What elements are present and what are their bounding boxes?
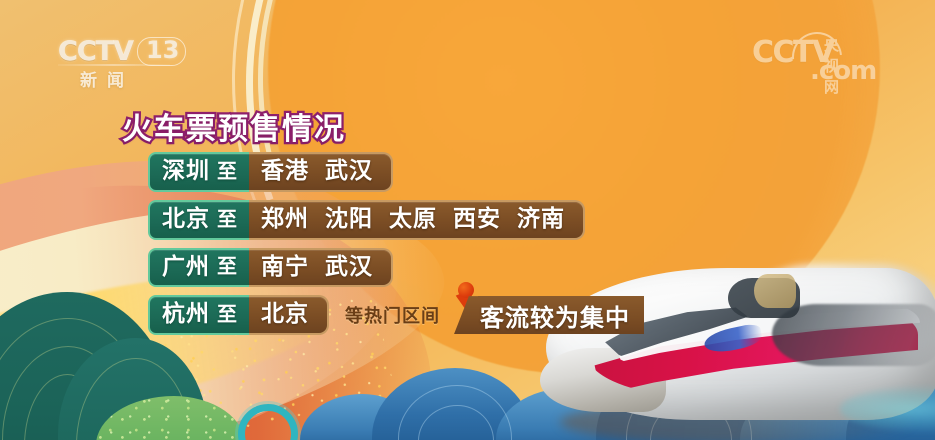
destination-city: 武汉 (325, 157, 373, 186)
destination-city: 香港 (261, 157, 309, 186)
origin-city-label: 北京 (162, 205, 210, 234)
route-row: 北京 至 郑州 沈阳 太原 西安 济南 (148, 200, 585, 240)
origin-city-label: 深圳 (162, 157, 210, 186)
destination-city: 太原 (389, 205, 437, 234)
destination-pill: 郑州 沈阳 太原 西安 济南 (247, 200, 585, 240)
to-word-label: 至 (217, 159, 237, 184)
origin-chip: 广州 至 (148, 248, 249, 288)
traffic-callout: 客流较为集中 (454, 296, 644, 334)
callout-body: 客流较为集中 (478, 296, 644, 334)
page-title: 火车票预售情况 (122, 104, 346, 148)
callout-label: 客流较为集中 (480, 298, 630, 333)
route-row: 广州 至 南宁 武汉 (148, 248, 393, 288)
destination-city: 郑州 (261, 205, 309, 234)
destination-pill: 北京 (247, 295, 329, 335)
destination-city: 北京 (261, 300, 309, 329)
origin-city-label: 杭州 (162, 300, 210, 329)
route-list: 深圳 至 香港 武汉 北京 至 郑州 沈阳 太原 西安 (148, 152, 644, 343)
location-dot-icon (458, 282, 474, 298)
destination-pill: 香港 武汉 (247, 152, 393, 192)
lower-third-content: 火车票预售情况 深圳 至 香港 武汉 北京 至 (0, 0, 935, 440)
destination-city: 武汉 (325, 253, 373, 282)
origin-city-label: 广州 (162, 253, 210, 282)
destination-city: 沈阳 (325, 205, 373, 234)
route-row: 杭州 至 北京 等热门区间 客流较为集中 (148, 295, 644, 335)
to-word-label: 至 (217, 254, 237, 279)
destination-city: 济南 (517, 205, 565, 234)
hot-routes-note: 等热门区间 (345, 302, 440, 328)
origin-chip: 北京 至 (148, 200, 249, 240)
broadcast-graphic: CCTV 13 新闻 CCTV .com 央视网 火车票预售情况 深圳 至 香港… (0, 0, 935, 440)
destination-city: 西安 (453, 205, 501, 234)
origin-chip: 杭州 至 (148, 295, 249, 335)
to-word-label: 至 (217, 302, 237, 327)
to-word-label: 至 (217, 207, 237, 232)
route-row: 深圳 至 香港 武汉 (148, 152, 393, 192)
destination-pill: 南宁 武汉 (247, 248, 393, 288)
destination-city: 南宁 (261, 253, 309, 282)
origin-chip: 深圳 至 (148, 152, 249, 192)
